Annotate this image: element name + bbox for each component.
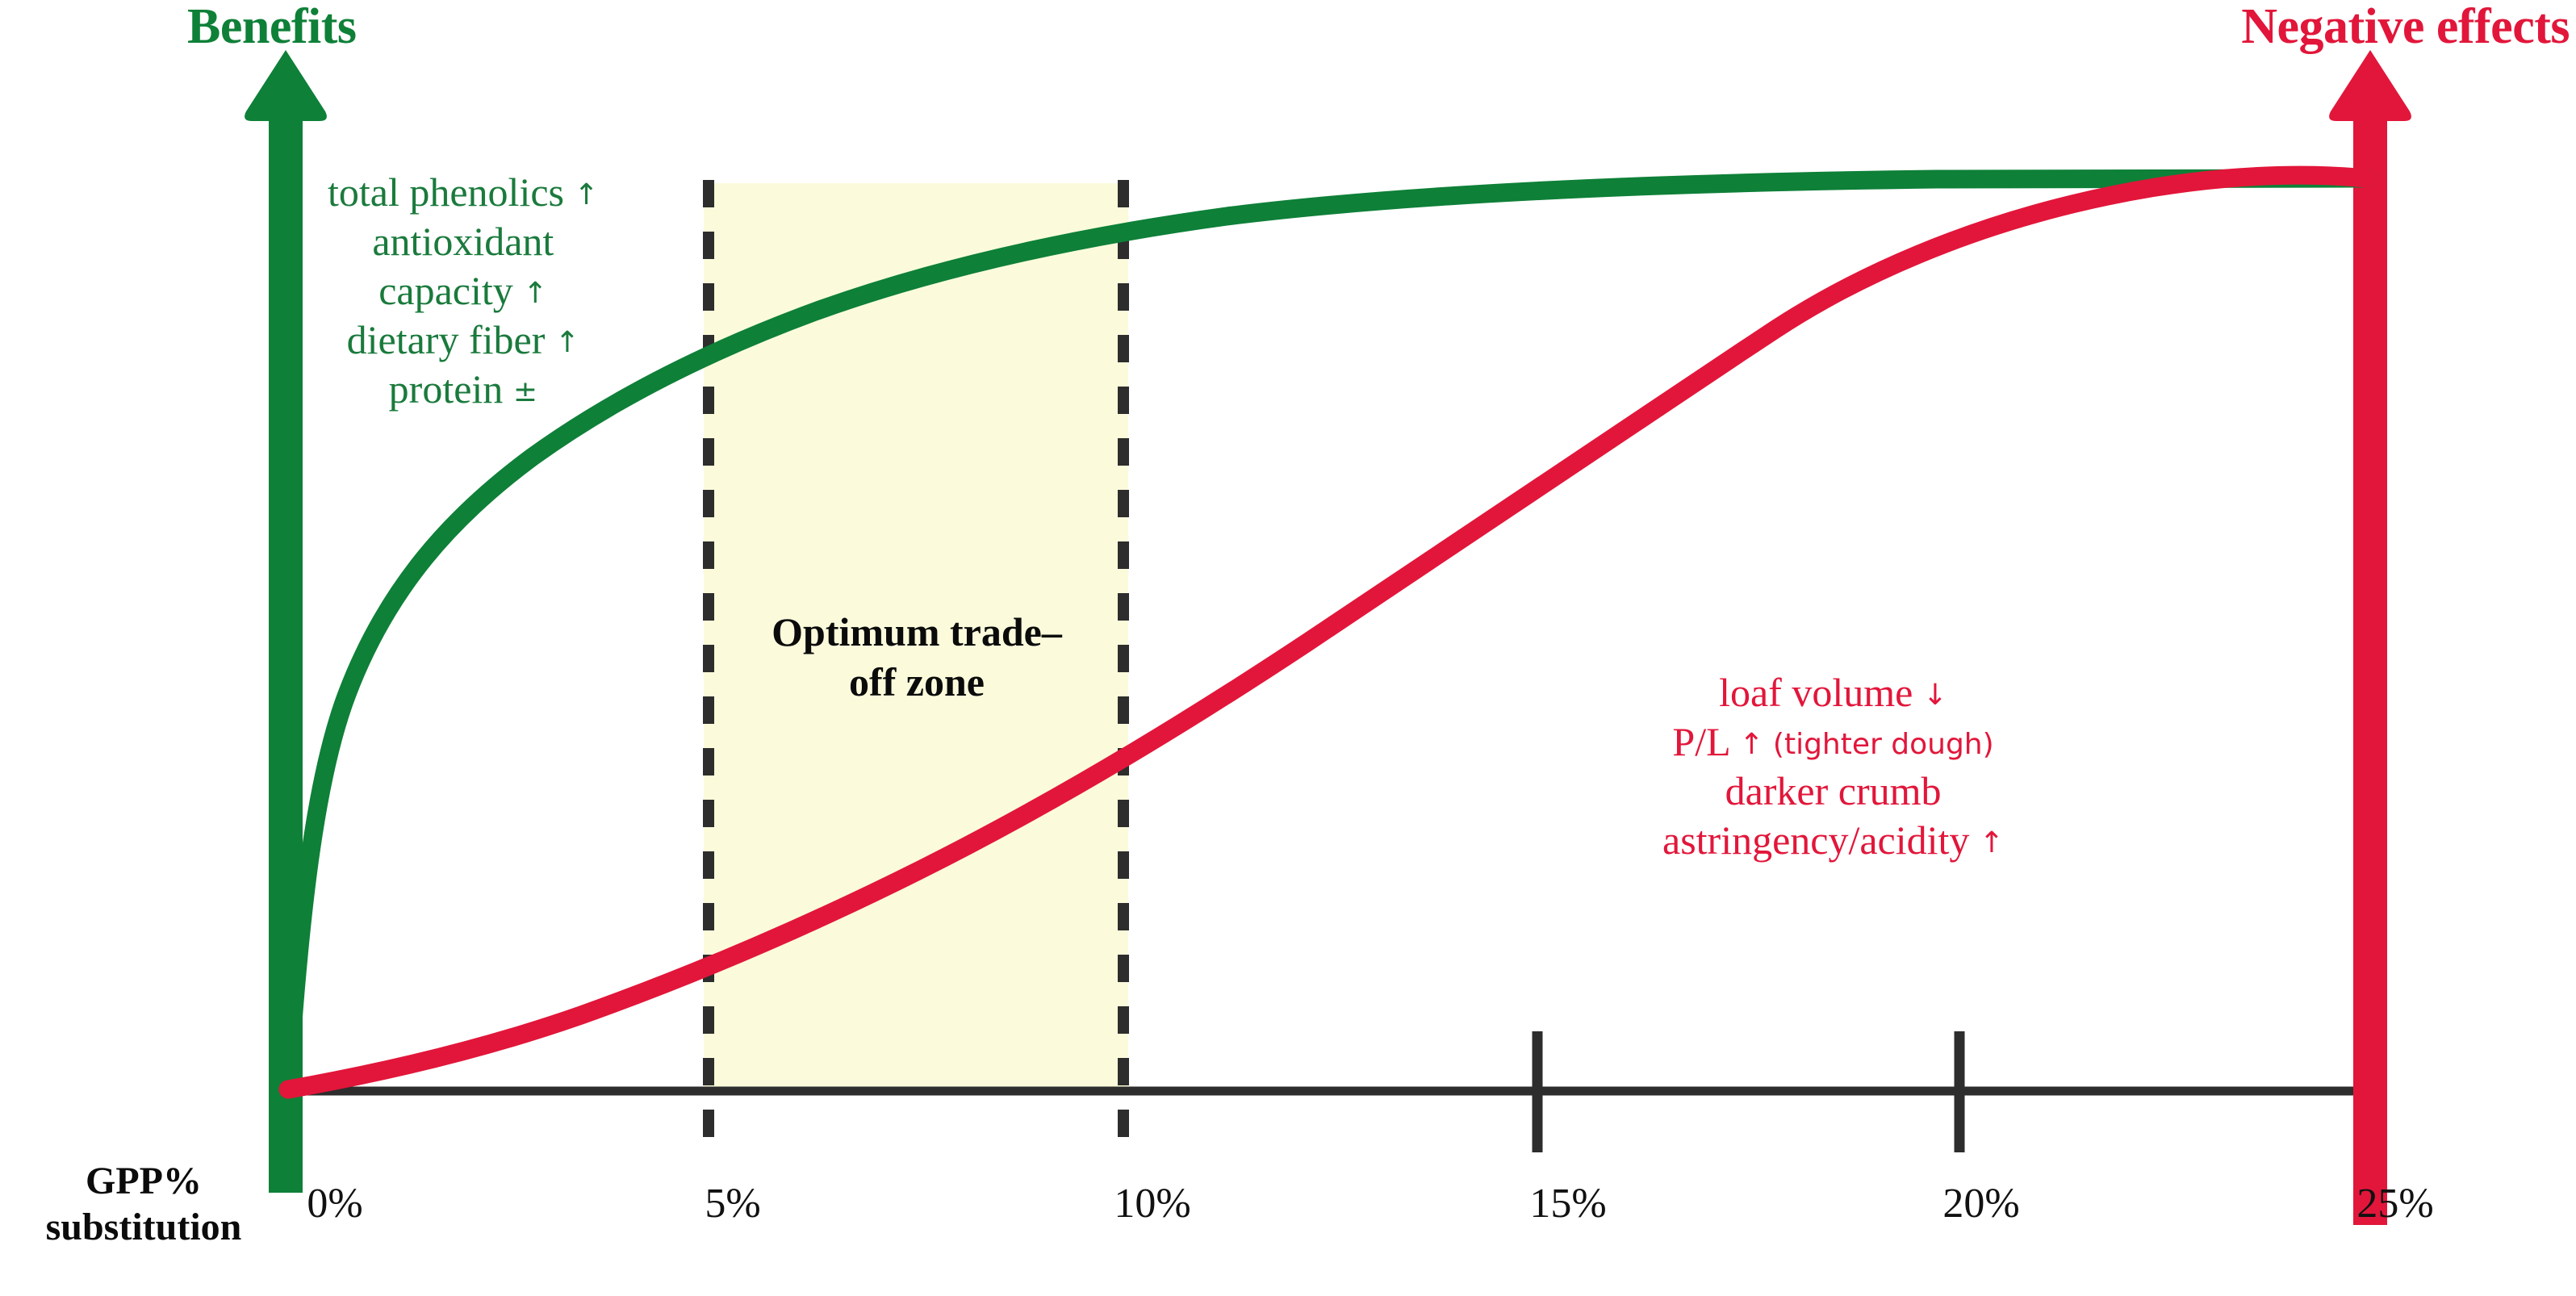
negative-note-pl-ratio: P/L ↑ (tighter dough) bbox=[1662, 717, 2004, 767]
x-tick-label-0: 0% bbox=[307, 1180, 362, 1227]
down-arrow-icon: ↓ bbox=[1923, 679, 1947, 712]
benefits-axis-title: Benefits bbox=[187, 2, 357, 52]
benefits-annotation-list: total phenolics ↑ antioxidant capacity ↑… bbox=[328, 168, 599, 414]
optimum-zone-label: Optimum trade– off zone bbox=[704, 607, 1130, 707]
chart-figure: Benefits Negative effects total phenolic… bbox=[0, 0, 2576, 1296]
negative-note-loaf-volume: loaf volume ↓ bbox=[1662, 668, 2004, 717]
x-tick-label-10: 10% bbox=[1114, 1180, 1190, 1227]
up-arrow-icon: ↑ bbox=[575, 178, 599, 211]
negative-note-astringency: astringency/acidity ↑ bbox=[1662, 816, 2004, 865]
up-arrow-icon: ↑ bbox=[1980, 826, 2004, 859]
up-arrow-icon bbox=[2329, 50, 2411, 121]
x-axis-title-line2: substitution bbox=[23, 1205, 265, 1251]
benefit-note-protein: protein ± bbox=[328, 365, 599, 414]
x-axis-title-line1: GPP% bbox=[23, 1159, 265, 1205]
x-axis-title: GPP% substitution bbox=[23, 1159, 265, 1250]
benefit-note-capacity: capacity ↑ bbox=[328, 266, 599, 316]
optimum-zone-label-line1: Optimum trade– bbox=[704, 607, 1130, 657]
benefit-note-antioxidant: antioxidant bbox=[328, 217, 599, 266]
x-tick-label-25: 25% bbox=[2356, 1180, 2433, 1227]
up-arrow-icon: ↑ (tighter dough) bbox=[1739, 728, 1993, 761]
benefit-note-dietary-fiber: dietary fiber ↑ bbox=[328, 316, 599, 365]
x-tick-label-15: 15% bbox=[1529, 1180, 1606, 1227]
plus-minus-icon: ± bbox=[513, 375, 537, 408]
negative-axis-arrow bbox=[2329, 50, 2411, 1225]
optimum-zone-label-line2: off zone bbox=[704, 657, 1130, 707]
up-arrow-icon: ↑ bbox=[555, 326, 579, 359]
negative-annotation-list: loaf volume ↓ P/L ↑ (tighter dough) dark… bbox=[1662, 668, 2004, 865]
up-arrow-icon bbox=[245, 50, 327, 121]
x-tick-label-20: 20% bbox=[1942, 1180, 2019, 1227]
negative-curve bbox=[288, 175, 2366, 1089]
up-arrow-icon: ↑ bbox=[523, 277, 547, 310]
negative-note-darker-crumb: darker crumb bbox=[1662, 767, 2004, 816]
benefit-note-total-phenolics: total phenolics ↑ bbox=[328, 168, 599, 217]
x-tick-label-5: 5% bbox=[705, 1180, 760, 1227]
negative-axis-title: Negative effects bbox=[2241, 2, 2570, 52]
